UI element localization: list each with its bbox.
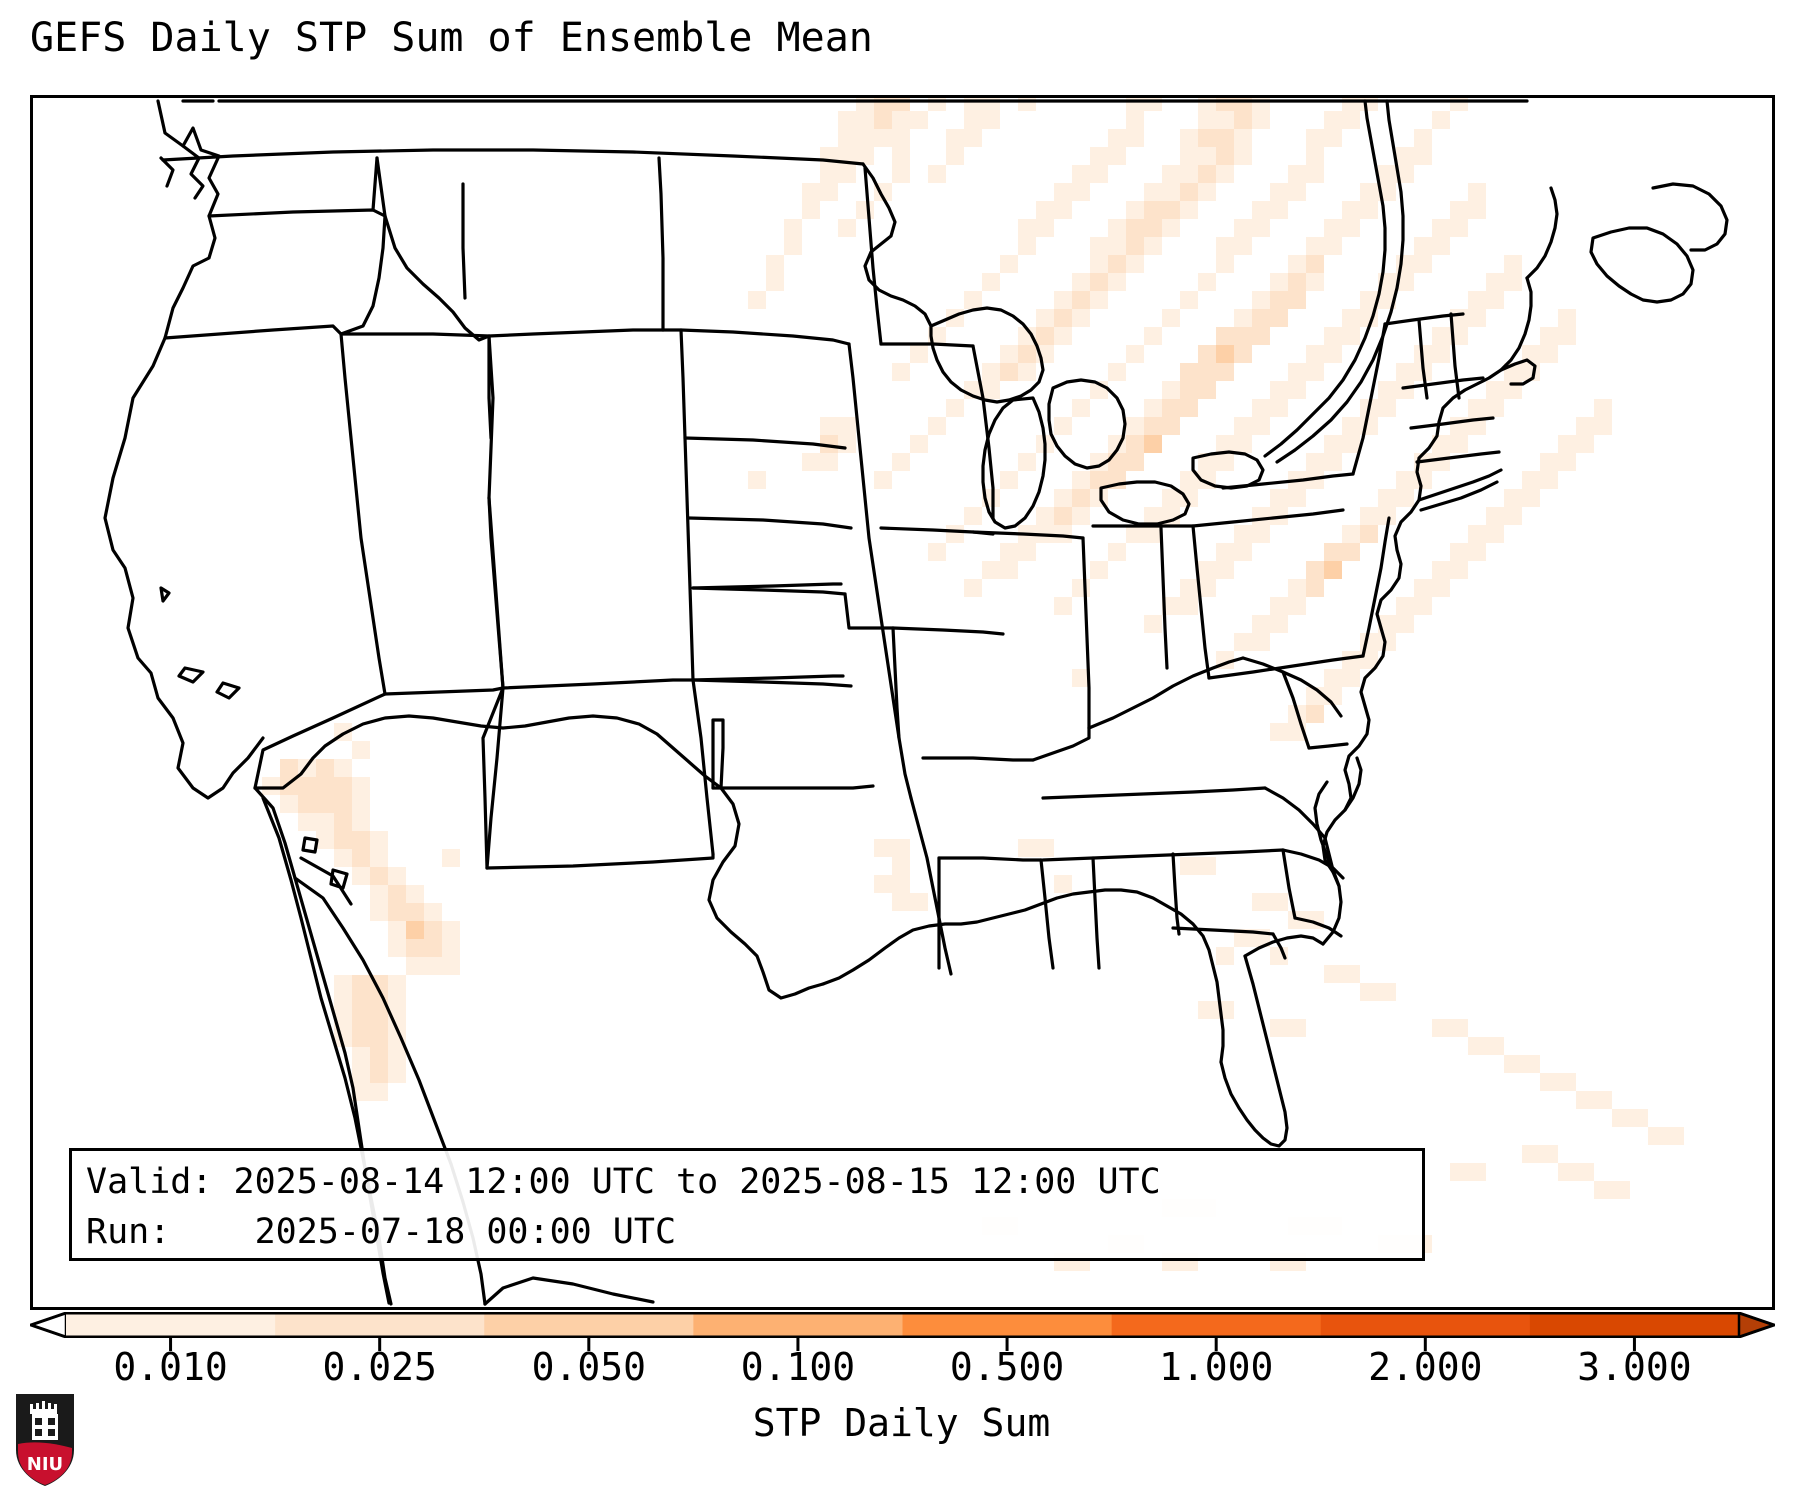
colorbar-gradient (30, 1312, 1775, 1338)
colorbar-band (693, 1313, 903, 1337)
colorbar-band (275, 1313, 485, 1337)
colorbar-tick-labels: 0.0100.0250.0500.1000.5001.0002.0003.000 (0, 1345, 1803, 1395)
map-panel[interactable]: Valid: 2025-08-14 12:00 UTC to 2025-08-1… (30, 95, 1775, 1310)
colorbar[interactable] (30, 1312, 1775, 1338)
niu-shield-logo: NIU (14, 1392, 76, 1488)
colorbar-over-arrow (1739, 1313, 1774, 1337)
colorbar-under-arrow (31, 1313, 66, 1337)
colorbar-band (484, 1313, 694, 1337)
colorbar-tick-label: 2.000 (1368, 1345, 1482, 1389)
colorbar-tick-label: 0.025 (322, 1345, 436, 1389)
map-canvas (33, 98, 1772, 1307)
colorbar-tick-label: 0.050 (532, 1345, 646, 1389)
coastline-and-borders (105, 101, 1727, 1304)
figure-root: GEFS Daily STP Sum of Ensemble Mean (0, 0, 1803, 1500)
colorbar-axis-label: STP Daily Sum (0, 1400, 1803, 1446)
colorbar-tick-label: 1.000 (1159, 1345, 1273, 1389)
colorbar-band (66, 1313, 276, 1337)
colorbar-band (1321, 1313, 1531, 1337)
colorbar-tick-label: 3.000 (1577, 1345, 1691, 1389)
colorbar-tick-label: 0.010 (113, 1345, 227, 1389)
colorbar-tick-label: 0.100 (741, 1345, 855, 1389)
colorbar-band (903, 1313, 1113, 1337)
valid-run-info-box: Valid: 2025-08-14 12:00 UTC to 2025-08-1… (69, 1148, 1425, 1261)
run-time-line: Run: 2025-07-18 00:00 UTC (86, 1207, 1410, 1257)
colorbar-band (1112, 1313, 1322, 1337)
valid-time-line: Valid: 2025-08-14 12:00 UTC to 2025-08-1… (86, 1157, 1410, 1207)
colorbar-tick-label: 0.500 (950, 1345, 1064, 1389)
colorbar-band (1530, 1313, 1740, 1337)
page-title: GEFS Daily STP Sum of Ensemble Mean (30, 14, 1770, 62)
niu-logo-text: NIU (27, 1454, 63, 1475)
geography-layer (33, 98, 1772, 1307)
